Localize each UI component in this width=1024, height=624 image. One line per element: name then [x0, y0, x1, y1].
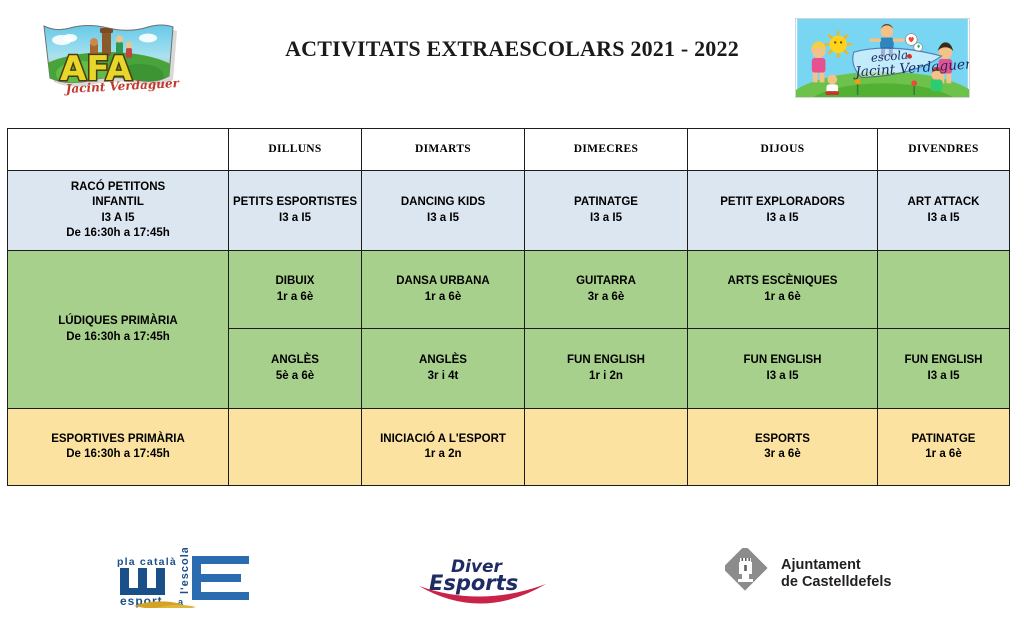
escola-logo-art: escola Jacint Verdaguer	[796, 19, 969, 97]
row-label-line: INFANTIL	[11, 195, 225, 210]
row-label-line: I3 A I5	[11, 211, 225, 226]
activity-name: PATINATGE	[528, 195, 684, 210]
diver-esports-logo: Diver Esports	[415, 548, 550, 610]
activity-cell: DANSA URBANA 1r a 6è	[362, 251, 525, 329]
escola-jacint-verdaguer-logo: escola Jacint Verdaguer	[795, 18, 970, 98]
activity-name: FUN ENGLISH	[528, 353, 684, 368]
activity-cell-empty	[525, 409, 688, 486]
ajuntament-line2: de Castelldefels	[781, 574, 891, 590]
activity-name: DANSA URBANA	[365, 274, 521, 289]
row-label-line: RACÓ PETITONS	[11, 180, 225, 195]
activity-cell: INICIACIÓ A L'ESPORT 1r a 2n	[362, 409, 525, 486]
pce-vertical-label: l'escola	[179, 548, 191, 594]
activity-cell: ANGLÈS 5è a 6è	[229, 329, 362, 409]
activity-cell: FUN ENGLISH I3 a I5	[688, 329, 878, 409]
activity-name: PATINATGE	[881, 432, 1006, 447]
day-header-dilluns: DILLUNS	[229, 129, 362, 171]
day-header-dijous: DIJOUS	[688, 129, 878, 171]
activity-cell: FUN ENGLISH 1r i 2n	[525, 329, 688, 409]
activity-grade: I3 a I5	[365, 211, 521, 226]
table-row: ESPORTIVES PRIMÀRIA De 16:30h a 17:45h I…	[8, 409, 1010, 486]
activity-cell: PETITS ESPORTISTES I3 a I5	[229, 171, 362, 251]
activity-name: FUN ENGLISH	[691, 353, 874, 368]
activity-grade: I3 a I5	[232, 211, 358, 226]
activity-name: INICIACIÓ A L'ESPORT	[365, 432, 521, 447]
ajuntament-castelldefels-logo: Ajuntament de Castelldefels	[725, 548, 920, 600]
ajuntament-logo-art: Ajuntament de Castelldefels	[725, 548, 920, 600]
activity-name: DIBUIX	[232, 274, 358, 289]
activity-cell: FUN ENGLISH I3 a I5	[878, 329, 1010, 409]
document-header: AFA AFA Jacint Verdaguer ACTIVITATS EXTR…	[0, 0, 1024, 115]
activity-grade: I3 a I5	[691, 369, 874, 384]
activity-cell: PETIT EXPLORADORS I3 a I5	[688, 171, 878, 251]
activity-name: ANGLÈS	[232, 353, 358, 368]
activity-cell-empty	[878, 251, 1010, 329]
row-label-ludiques-primaria: LÚDIQUES PRIMÀRIA De 16:30h a 17:45h	[8, 251, 229, 409]
activity-grade: 1r a 6è	[232, 290, 358, 305]
day-header-dimarts: DIMARTS	[362, 129, 525, 171]
activity-name: PETITS ESPORTISTES	[232, 195, 358, 210]
activity-name: GUITARRA	[528, 274, 684, 289]
activity-name: ANGLÈS	[365, 353, 521, 368]
activity-cell: PATINATGE 1r a 6è	[878, 409, 1010, 486]
activity-cell: DIBUIX 1r a 6è	[229, 251, 362, 329]
activity-name: DANCING KIDS	[365, 195, 521, 210]
activity-name: PETIT EXPLORADORS	[691, 195, 874, 210]
activity-grade: 5è a 6è	[232, 369, 358, 384]
activity-grade: 3r a 6è	[528, 290, 684, 305]
row-label-line: De 16:30h a 17:45h	[11, 447, 225, 462]
row-label-esportives-primaria: ESPORTIVES PRIMÀRIA De 16:30h a 17:45h	[8, 409, 229, 486]
activity-cell: ESPORTS 3r a 6è	[688, 409, 878, 486]
activity-grade: 1r a 6è	[881, 447, 1006, 462]
row-label-line: LÚDIQUES PRIMÀRIA	[11, 314, 225, 329]
activity-name: ESPORTS	[691, 432, 874, 447]
esports-word: Esports	[429, 571, 518, 595]
activity-cell: PATINATGE I3 a I5	[525, 171, 688, 251]
pce-line1: pla català	[117, 556, 177, 568]
diver-esports-logo-art: Diver Esports	[415, 548, 550, 610]
pla-catala-esport-escola-logo: l'escola pla català esport a	[100, 548, 260, 608]
activity-grade: 1r a 6è	[691, 290, 874, 305]
activity-cell: ART ATTACK I3 a I5	[878, 171, 1010, 251]
ajuntament-line1: Ajuntament	[781, 557, 861, 573]
table-row: LÚDIQUES PRIMÀRIA De 16:30h a 17:45h DIB…	[8, 251, 1010, 329]
activity-grade: I3 a I5	[528, 211, 684, 226]
activity-name: ART ATTACK	[881, 195, 1006, 210]
table-row: RACÓ PETITONS INFANTIL I3 A I5 De 16:30h…	[8, 171, 1010, 251]
row-label-raco-petitons: RACÓ PETITONS INFANTIL I3 A I5 De 16:30h…	[8, 171, 229, 251]
activity-cell: GUITARRA 3r a 6è	[525, 251, 688, 329]
activity-grade: I3 a I5	[691, 211, 874, 226]
activity-grade: 3r a 6è	[691, 447, 874, 462]
row-label-line: De 16:30h a 17:45h	[11, 330, 225, 345]
activity-grade: 1r a 6è	[365, 290, 521, 305]
row-label-line: De 16:30h a 17:45h	[11, 226, 225, 241]
corner-blank-cell	[8, 129, 229, 171]
activity-grade: I3 a I5	[881, 211, 1006, 226]
activity-grade: 1r i 2n	[528, 369, 684, 384]
activity-name: FUN ENGLISH	[881, 353, 1006, 368]
pla-catala-logo-art: l'escola pla català esport a	[100, 548, 260, 608]
table-header-row: DILLUNS DIMARTS DIMECRES DIJOUS DIVENDRE…	[8, 129, 1010, 171]
row-label-line: ESPORTIVES PRIMÀRIA	[11, 432, 225, 447]
activity-name: ARTS ESCÈNIQUES	[691, 274, 874, 289]
activities-schedule: DILLUNS DIMARTS DIMECRES DIJOUS DIVENDRE…	[7, 128, 1009, 486]
activity-cell: ARTS ESCÈNIQUES 1r a 6è	[688, 251, 878, 329]
day-header-dimecres: DIMECRES	[525, 129, 688, 171]
day-header-divendres: DIVENDRES	[878, 129, 1010, 171]
schedule-table: DILLUNS DIMARTS DIMECRES DIJOUS DIVENDRE…	[7, 128, 1010, 486]
activity-cell: DANCING KIDS I3 a I5	[362, 171, 525, 251]
activity-cell: ANGLÈS 3r i 4t	[362, 329, 525, 409]
activity-cell-empty	[229, 409, 362, 486]
footer-logos: l'escola pla català esport a Diver Espor…	[0, 548, 1024, 624]
activity-grade: 3r i 4t	[365, 369, 521, 384]
activity-grade: 1r a 2n	[365, 447, 521, 462]
activity-grade: I3 a I5	[881, 369, 1006, 384]
